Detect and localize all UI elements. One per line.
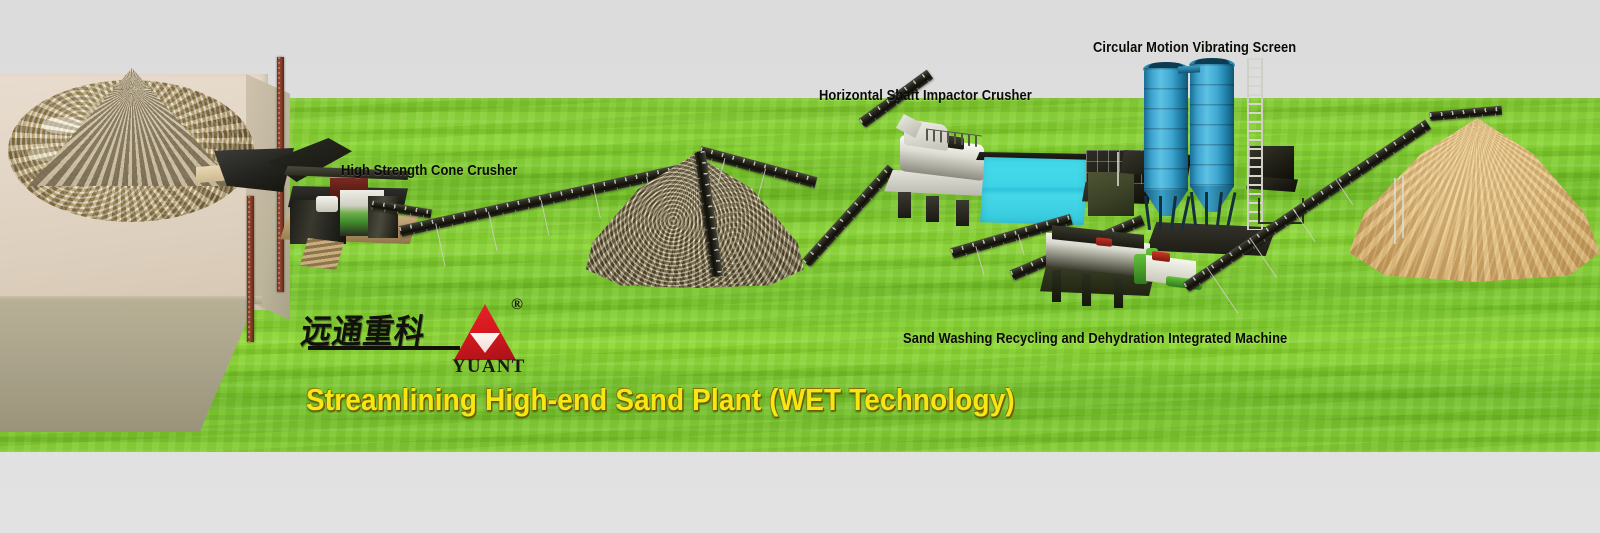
sand-washer-leg-1: [1052, 270, 1061, 302]
settling-pool: [980, 157, 1088, 225]
sand-pile-pole-1: [1394, 178, 1396, 244]
support-post-left: [247, 196, 254, 342]
scene-illustration: High Strength Cone Crusher Horizontal Sh…: [0, 0, 1600, 533]
hsi-leg-3: [956, 200, 969, 226]
cone-crusher-stairs: [300, 238, 344, 270]
registered-trademark-icon: ®: [511, 296, 523, 314]
control-house: [1088, 172, 1134, 216]
label-vibrating-screen: Circular Motion Vibrating Screen: [1093, 39, 1296, 56]
hsi-leg-2: [926, 196, 939, 222]
hsi-leg-1: [898, 192, 911, 218]
logo-english-name: YUANT: [452, 356, 526, 378]
page-title: Streamlining High-end Sand Plant (WET Te…: [306, 382, 1015, 418]
silo-cross-pipe: [1178, 65, 1200, 73]
label-cone-crusher: High Strength Cone Crusher: [341, 162, 517, 179]
sand-washer-red-motor: [1096, 237, 1112, 247]
sand-washer-leg-2: [1082, 274, 1091, 306]
storage-silo-left: [1144, 68, 1188, 192]
label-hsi-crusher: Horizontal Shaft Impactor Crusher: [819, 87, 1032, 104]
sand-washer-leg-3: [1114, 278, 1123, 308]
label-sand-washer: Sand Washing Recycling and Dehydration I…: [903, 330, 1287, 347]
screen-ladder: [1117, 152, 1119, 186]
silo-left-legs: [1143, 196, 1189, 230]
sand-pile-pole-2: [1402, 176, 1404, 238]
logo-underline: [308, 346, 460, 350]
company-logo: 远通重科 ® YUANT: [306, 300, 536, 378]
silo-right-legs: [1189, 192, 1235, 226]
storage-silo-right: [1190, 64, 1234, 188]
cone-crusher-motor: [316, 196, 338, 212]
